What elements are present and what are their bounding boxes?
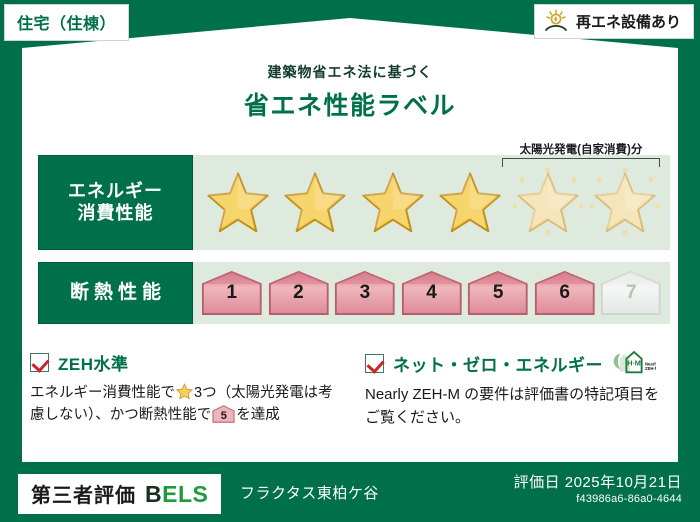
insulation-level-number: 4 (401, 282, 463, 304)
bels-wordmark: BELS (145, 481, 208, 508)
solar-annotation: 太陽光発電(自家消費)分 (496, 141, 666, 167)
insulation-level-badge: 1 (201, 270, 263, 316)
insulation-level-badge: 2 (268, 270, 330, 316)
building-type-label: 住宅（住棟） (17, 16, 116, 33)
zeh-column: ZEH水準 エネルギー消費性能で3つ（太陽光発電は考慮しない）、かつ断熱性能で5… (30, 350, 351, 430)
energy-performance-label: エネルギー 消費性能 (38, 155, 193, 250)
insulation-level-number: 7 (600, 282, 662, 304)
insulation-level-badge-inactive: 7 (600, 270, 662, 316)
energy-label-line1: エネルギー (68, 181, 163, 203)
zeh-text-3: を達成 (236, 407, 280, 423)
insulation-level-number: 2 (268, 282, 330, 304)
title-block: 建築物省エネ法に基づく 省エネ性能ラベル (0, 62, 700, 122)
solar-bracket (502, 158, 660, 167)
netzero-title: ネット・ゼロ・エネルギー (393, 351, 603, 376)
evaluation-id: f43986a6-86a0-4644 (576, 493, 682, 505)
star-solar (588, 167, 662, 239)
insulation-performance-label: 断熱性能 (38, 262, 193, 324)
title-main: 省エネ性能ラベル (0, 86, 700, 122)
insulation-badges-panel: 1 2 3 (193, 262, 670, 324)
insulation-level-badge: 3 (334, 270, 396, 316)
footer-bar: 第三者評価 BELS フラクタス東柏ケ谷 評価日 2025年10月21日 f43… (0, 464, 700, 522)
zeh-text-star-count: 3つ（太陽光発電 (194, 385, 304, 401)
svg-text:H·M: H·M (627, 359, 641, 368)
zeh-text-1: エネルギー消費性能で (30, 385, 175, 401)
insulation-level-number: 1 (201, 282, 263, 304)
building-name: フラクタス東柏ケ谷 (240, 482, 379, 503)
bels-letters-els: ELS (162, 481, 208, 507)
insulation-level-number: 6 (534, 282, 596, 304)
insulation-badge-strip: 1 2 3 (193, 270, 670, 316)
netzero-description: Nearly ZEH-M の要件は評価書の特記項目をご覧ください。 (365, 383, 674, 430)
star-strip (193, 167, 670, 239)
star-filled (201, 167, 275, 239)
netzero-checkbox-icon (365, 354, 384, 373)
bels-letter-b: B (145, 481, 162, 507)
building-type-tag: 住宅（住棟） (4, 4, 129, 41)
inline-level-number: 5 (212, 408, 235, 425)
info-section: ZEH水準 エネルギー消費性能で3つ（太陽光発電は考慮しない）、かつ断熱性能で5… (30, 350, 674, 430)
inline-star-icon (175, 383, 194, 401)
insulation-level-badge: 6 (534, 270, 596, 316)
zeh-heading: ZEH水準 (30, 350, 339, 375)
svg-text:ZEH-M: ZEH-M (645, 366, 656, 371)
star-filled (433, 167, 507, 239)
energy-stars-panel: 太陽光発電(自家消費)分 (193, 155, 670, 250)
renewable-label: 再エネ設備あり (576, 11, 681, 32)
netzero-heading: ネット・ゼロ・エネルギー H·M Nearly ZEH-M (365, 350, 674, 376)
insulation-level-badge: 5 (467, 270, 529, 316)
renewable-equipment-tag: 再エネ設備あり (534, 4, 694, 39)
insulation-level-badge: 4 (401, 270, 463, 316)
zeh-title: ZEH水準 (58, 350, 129, 375)
star-filled (278, 167, 352, 239)
netzero-column: ネット・ゼロ・エネルギー H·M Nearly ZEH-M Nearly ZEH… (351, 350, 674, 430)
zeh-m-logo-icon: H·M Nearly ZEH-M (612, 350, 656, 376)
solar-sun-icon (543, 9, 569, 33)
energy-performance-row: エネルギー 消費性能 太陽光発電(自家消費)分 (38, 155, 670, 250)
zeh-checkbox-icon (30, 353, 49, 372)
solar-annotation-text: 太陽光発電(自家消費)分 (496, 141, 666, 157)
bels-badge: 第三者評価 BELS (18, 474, 221, 514)
title-subtitle: 建築物省エネ法に基づく (0, 62, 700, 82)
star-solar (511, 167, 585, 239)
energy-label-line2: 消費性能 (78, 203, 154, 225)
inline-level-badge: 5 (212, 405, 235, 423)
star-filled (356, 167, 430, 239)
insulation-level-number: 5 (467, 282, 529, 304)
zeh-description: エネルギー消費性能で3つ（太陽光発電は考慮しない）、かつ断熱性能で5を達成 (30, 382, 339, 427)
third-party-label: 第三者評価 (31, 479, 136, 508)
insulation-level-number: 3 (334, 282, 396, 304)
insulation-label-text: 断熱性能 (65, 281, 166, 304)
evaluation-date: 評価日 2025年10月21日 (514, 471, 682, 492)
insulation-performance-row: 断熱性能 1 2 (38, 262, 670, 324)
